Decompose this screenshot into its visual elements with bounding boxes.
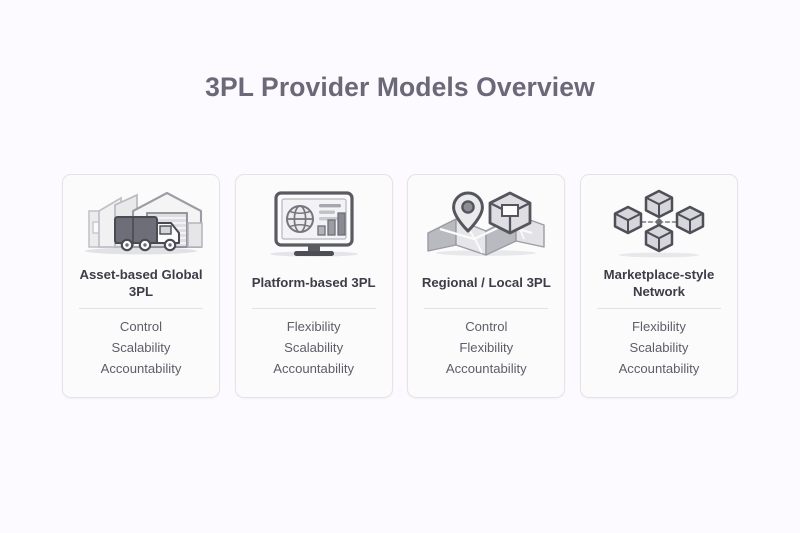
feature-list: Control Scalability Accountability [101, 317, 182, 379]
feature-item: Accountability [619, 359, 700, 379]
card-divider [597, 308, 721, 309]
feature-item: Accountability [101, 359, 182, 379]
card-title: Asset-based Global 3PL [71, 265, 211, 301]
provider-model-card[interactable]: Platform-based 3PL Flexibility Scalabili… [235, 174, 393, 398]
card-divider [252, 308, 376, 309]
feature-item: Accountability [273, 359, 354, 379]
page-title: 3PL Provider Models Overview [0, 72, 800, 104]
card-divider [79, 308, 203, 309]
card-title: Regional / Local 3PL [422, 265, 551, 301]
provider-model-card[interactable]: Regional / Local 3PL Control Flexibility… [407, 174, 565, 398]
map-pin-box-icon [416, 187, 556, 261]
feature-list: Flexibility Scalability Accountability [619, 317, 700, 379]
feature-item: Scalability [112, 338, 171, 358]
feature-item: Scalability [629, 338, 688, 358]
card-title: Marketplace-style Network [589, 265, 729, 301]
provider-models-row: Asset-based Global 3PL Control Scalabili… [62, 174, 738, 398]
feature-item: Control [120, 317, 162, 337]
feature-list: Control Flexibility Accountability [446, 317, 527, 379]
feature-item: Accountability [446, 359, 527, 379]
cube-network-icon [589, 187, 729, 261]
feature-item: Control [465, 317, 507, 337]
monitor-dashboard-icon [244, 187, 384, 261]
card-divider [424, 308, 548, 309]
feature-item: Scalability [284, 338, 343, 358]
warehouse-truck-icon [71, 187, 211, 261]
feature-item: Flexibility [287, 317, 341, 337]
provider-model-card[interactable]: Asset-based Global 3PL Control Scalabili… [62, 174, 220, 398]
feature-item: Flexibility [459, 338, 513, 358]
provider-model-card[interactable]: Marketplace-style Network Flexibility Sc… [580, 174, 738, 398]
slide-root: 3PL Provider Models Overview [0, 0, 800, 533]
card-title: Platform-based 3PL [252, 265, 376, 301]
feature-list: Flexibility Scalability Accountability [273, 317, 354, 379]
feature-item: Flexibility [632, 317, 686, 337]
